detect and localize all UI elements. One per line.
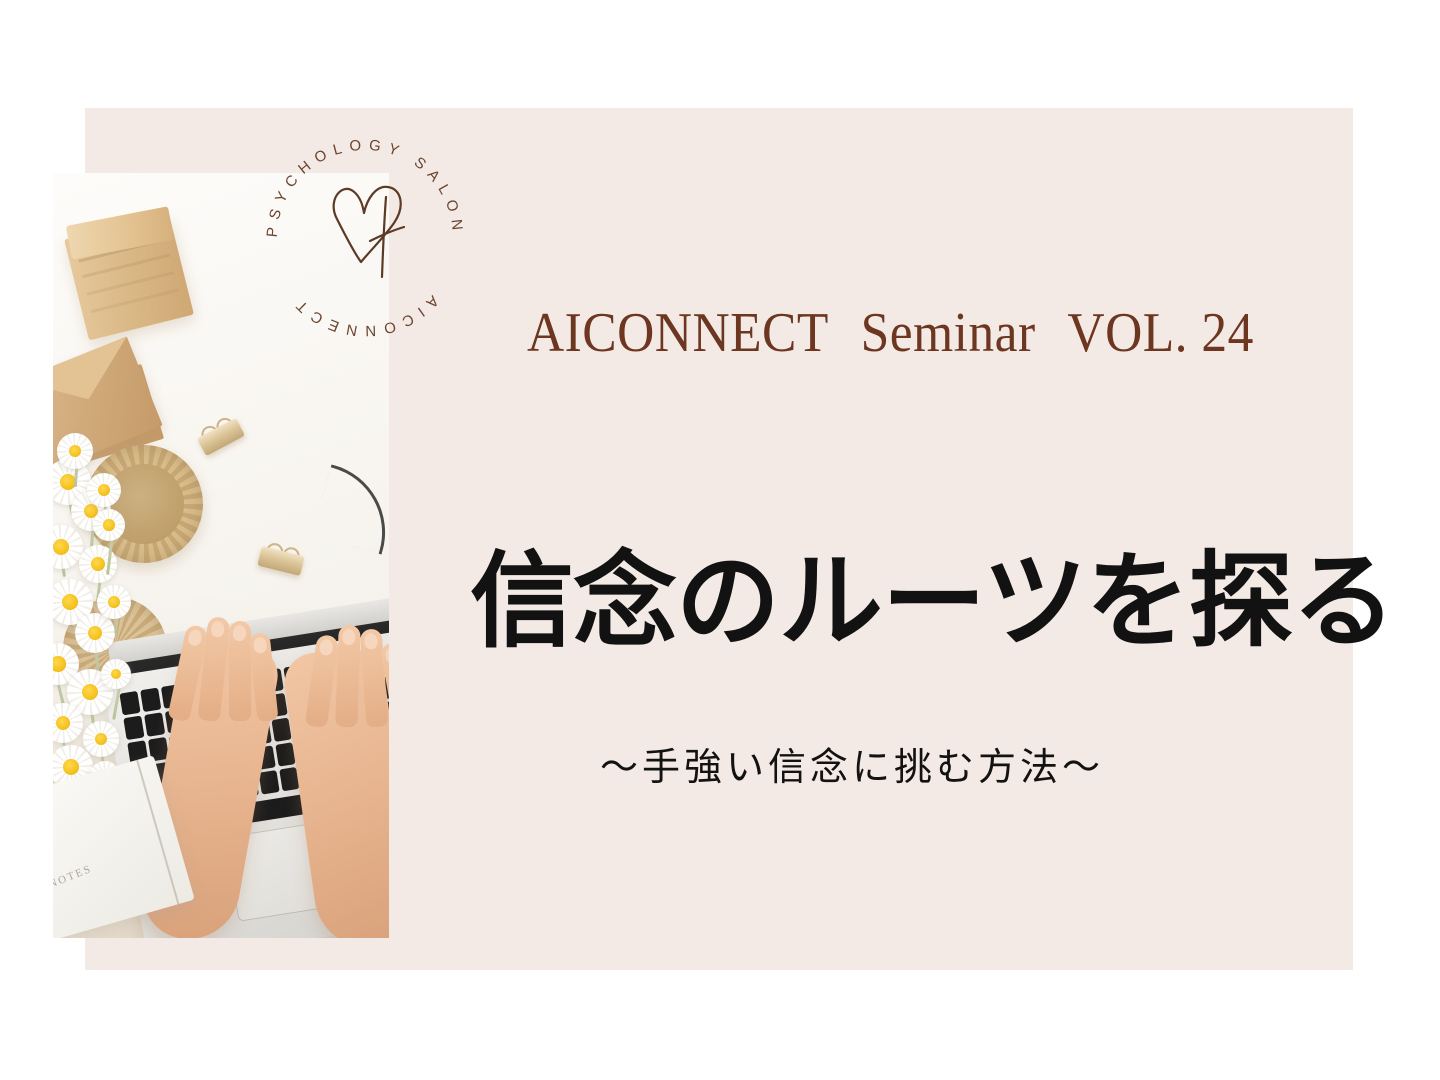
daisy-center — [103, 519, 115, 531]
daisy-flower — [75, 613, 115, 653]
daisy-flower — [53, 703, 83, 743]
daisy-center — [63, 759, 79, 775]
psychology-salon-aiconnect-logo: PSYCHOLOGY SALON AICONNECT — [258, 131, 472, 345]
fingernail — [210, 621, 225, 638]
heart-icon — [334, 187, 404, 277]
seminar-eyebrow: AICONNECT Seminar VOL. 24 — [527, 300, 1254, 366]
fingernail — [384, 646, 389, 664]
fingernail — [364, 633, 378, 650]
fingernail — [319, 638, 334, 656]
finger — [335, 625, 361, 728]
logo-arc-top-text: PSYCHOLOGY SALON — [264, 137, 467, 238]
laptop-key — [258, 770, 279, 795]
fingernail — [233, 625, 246, 641]
daisy-center — [53, 539, 69, 555]
fingernail — [342, 629, 356, 645]
daisy-flower — [57, 433, 93, 469]
page-subtitle: 〜手強い信念に挑む方法〜 — [600, 745, 1200, 791]
laptop-key — [144, 712, 165, 737]
daisy-flower — [101, 659, 131, 689]
seminar-label: Seminar — [861, 305, 1036, 361]
fingernail — [187, 629, 203, 647]
laptop-key — [140, 688, 161, 713]
daisy-flower — [97, 585, 131, 619]
finger — [229, 621, 251, 721]
notebook-label: NOTES — [53, 863, 94, 891]
slide-canvas: NOTES PSYCHOLOGY SALON AICONNECT AICONNE… — [0, 0, 1440, 1080]
daisy-flower — [93, 509, 125, 541]
daisy-center — [91, 557, 105, 571]
laptop-key — [119, 691, 140, 716]
fingernail — [253, 637, 268, 654]
brand-name: AICONNECT — [527, 305, 829, 361]
logo-arc-bottom-text: AICONNECT — [288, 292, 442, 339]
daisy-center — [53, 656, 66, 671]
page-title: 信念のルーツを探る — [470, 548, 1330, 654]
daisy-flower — [87, 473, 121, 507]
volume-label: VOL. 24 — [1067, 305, 1253, 361]
laptop-key — [123, 716, 144, 741]
